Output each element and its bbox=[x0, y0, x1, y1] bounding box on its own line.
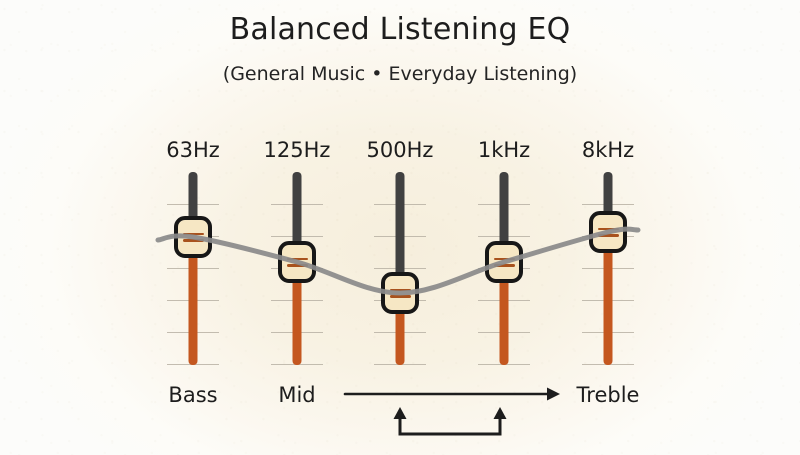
zone-label-mid: Mid bbox=[278, 383, 315, 407]
knob-grip-line bbox=[390, 295, 411, 298]
knob-grip-line bbox=[598, 228, 619, 231]
slider-knob-1kHz[interactable] bbox=[485, 241, 523, 283]
knob-grip-line bbox=[183, 233, 204, 236]
knob-grip-line bbox=[390, 289, 411, 292]
slider-knob-500Hz[interactable] bbox=[381, 272, 419, 314]
slider-knob-63Hz[interactable] bbox=[174, 216, 212, 258]
knob-grip-line bbox=[183, 239, 204, 242]
knob-grip-line bbox=[494, 264, 515, 267]
frequency-label-125Hz: 125Hz bbox=[264, 138, 331, 162]
eq-diagram-canvas: Balanced Listening EQ (General Music • E… bbox=[0, 0, 800, 455]
page-title: Balanced Listening EQ bbox=[0, 12, 800, 47]
slider-knob-8kHz[interactable] bbox=[589, 211, 627, 253]
zone-label-bass: Bass bbox=[168, 383, 217, 407]
page-subtitle: (General Music • Everyday Listening) bbox=[0, 63, 800, 85]
slider-knob-125Hz[interactable] bbox=[278, 241, 316, 283]
midrange-boost-bracket bbox=[394, 407, 507, 434]
frequency-label-500Hz: 500Hz bbox=[367, 138, 434, 162]
knob-grip-line bbox=[494, 258, 515, 261]
knob-grip-line bbox=[287, 258, 308, 261]
knob-grip-line bbox=[598, 234, 619, 237]
zone-label-treble: Treble bbox=[577, 383, 640, 407]
frequency-label-1kHz: 1kHz bbox=[478, 138, 530, 162]
frequency-label-63Hz: 63Hz bbox=[166, 138, 220, 162]
bass-to-treble-arrow bbox=[345, 388, 560, 401]
knob-grip-line bbox=[287, 264, 308, 267]
frequency-label-8kHz: 8kHz bbox=[582, 138, 634, 162]
